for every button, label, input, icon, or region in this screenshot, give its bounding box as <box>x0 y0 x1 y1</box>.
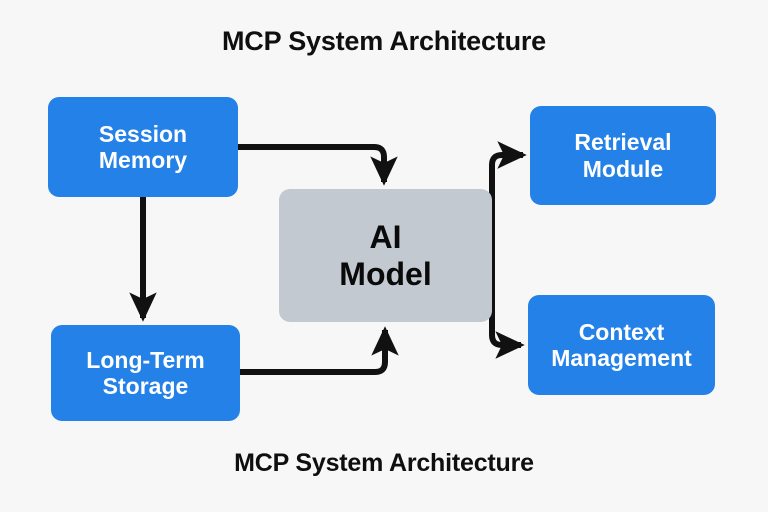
node-context-management[interactable]: Context Management <box>528 295 715 395</box>
node-ai-model-label: AI Model <box>333 219 437 292</box>
node-session-memory-label: Session Memory <box>93 121 193 173</box>
node-session-memory[interactable]: Session Memory <box>48 97 238 197</box>
node-long-term-storage-label: Long-Term Storage <box>80 347 210 399</box>
node-ai-model[interactable]: AI Model <box>279 189 492 322</box>
edge-ai-model-to-context-management <box>492 255 521 345</box>
node-retrieval-module-label: Retrieval Module <box>568 129 677 181</box>
edge-session-memory-to-ai-model <box>238 147 384 182</box>
node-retrieval-module[interactable]: Retrieval Module <box>530 106 716 205</box>
page-title: MCP System Architecture <box>0 26 768 57</box>
node-long-term-storage[interactable]: Long-Term Storage <box>51 325 240 421</box>
node-context-management-label: Context Management <box>545 319 698 371</box>
edge-long-term-storage-to-ai-model <box>240 330 385 372</box>
diagram-canvas: MCP System Architecture Session Memory L… <box>0 0 768 512</box>
edge-ai-model-to-retrieval-module <box>492 155 523 255</box>
diagram-caption: MCP System Architecture <box>0 449 768 478</box>
